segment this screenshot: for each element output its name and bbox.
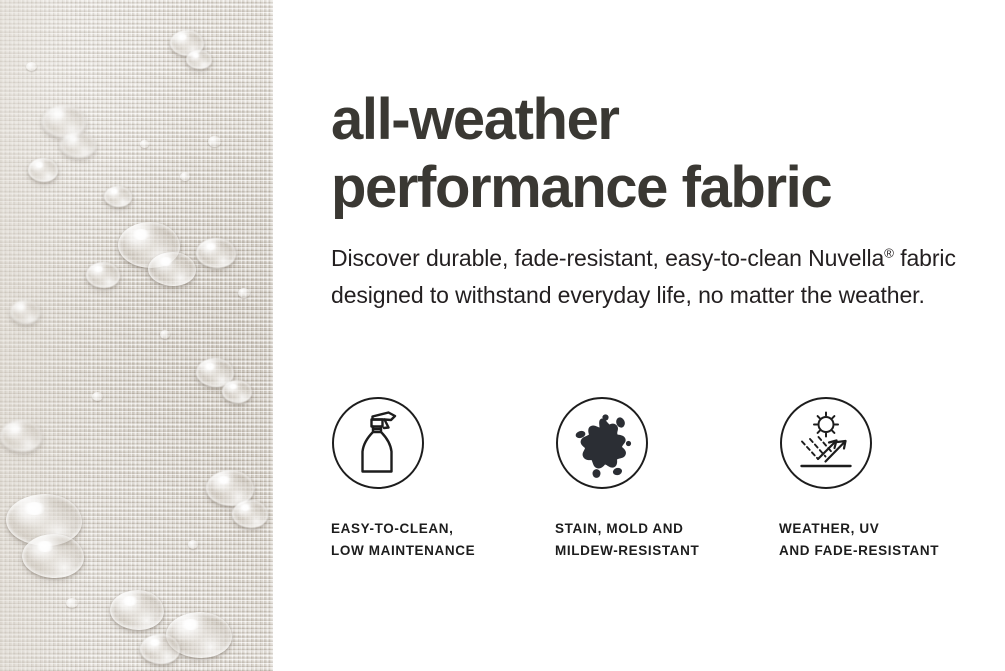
woven-fabric-texture bbox=[0, 0, 273, 671]
promo-content-panel: all-weather performance fabric Discover … bbox=[273, 0, 1005, 671]
description-line-1: Discover durable, fade-resistant, easy-t… bbox=[331, 245, 802, 271]
brand-name: Nuvella bbox=[808, 245, 884, 271]
feature-caption: STAIN, MOLD AND MILDEW-RESISTANT bbox=[555, 518, 779, 562]
all-weather-fabric-promo-banner: all-weather performance fabric Discover … bbox=[0, 0, 1005, 671]
feature-caption: WEATHER, UV AND FADE-RESISTANT bbox=[779, 518, 1003, 562]
spray-bottle-icon bbox=[331, 396, 425, 490]
feature-highlights-row: EASY-TO-CLEAN, LOW MAINTENANCE bbox=[331, 396, 1003, 562]
feature-caption: EASY-TO-CLEAN, LOW MAINTENANCE bbox=[331, 518, 555, 562]
page-title: all-weather performance fabric bbox=[331, 86, 991, 222]
description-line-3: no matter the weather. bbox=[698, 282, 925, 308]
sun-uv-reflect-icon bbox=[779, 396, 873, 490]
registered-trademark-icon: ® bbox=[884, 245, 894, 260]
stain-splat-icon bbox=[555, 396, 649, 490]
fabric-photo-panel bbox=[0, 0, 273, 671]
promo-description: Discover durable, fade-resistant, easy-t… bbox=[331, 240, 971, 314]
feature-item-easy-to-clean: EASY-TO-CLEAN, LOW MAINTENANCE bbox=[331, 396, 555, 562]
feature-item-weather-uv-resistant: WEATHER, UV AND FADE-RESISTANT bbox=[779, 396, 1003, 562]
feature-item-stain-resistant: STAIN, MOLD AND MILDEW-RESISTANT bbox=[555, 396, 779, 562]
